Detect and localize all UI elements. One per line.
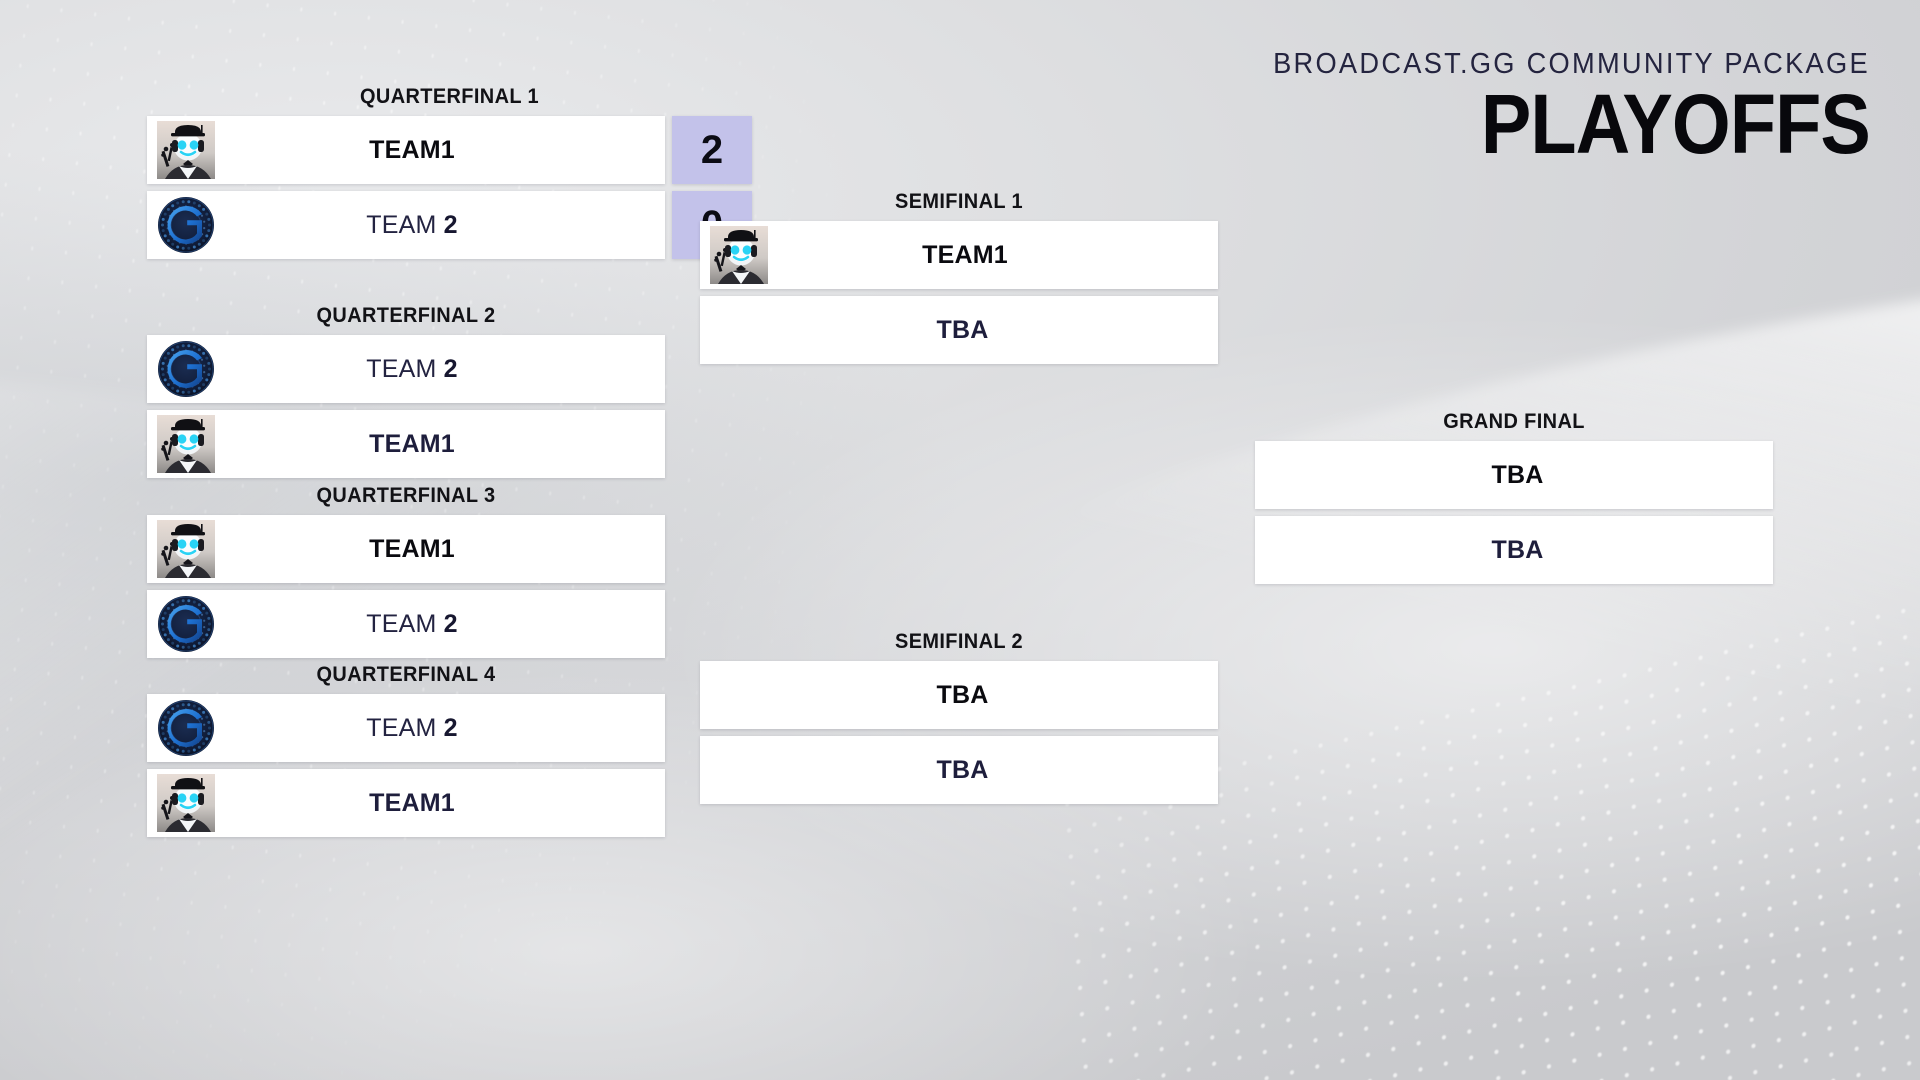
team-name: TEAM1 — [215, 136, 665, 165]
team-card[interactable]: TBA — [700, 661, 1218, 729]
header: BROADCAST.GG COMMUNITY PACKAGE PLAYOFFS — [1235, 48, 1870, 165]
team-row[interactable]: TEAM 2 — [147, 335, 665, 403]
match-semifinal-2: SEMIFINAL 2TBATBA — [700, 630, 1218, 804]
match-label: QUARTERFINAL 3 — [160, 484, 652, 508]
team-row[interactable]: TBA — [1255, 441, 1773, 509]
team-name: TEAM1 — [215, 789, 665, 818]
team-card[interactable]: TEAM1 — [147, 410, 665, 478]
team-card[interactable]: TEAM 2 — [147, 694, 665, 762]
robot-logo — [157, 520, 215, 578]
match-semifinal-1: SEMIFINAL 1TEAM1TBA — [700, 190, 1218, 364]
match-rows: TEAM1TEAM 2 — [147, 515, 665, 658]
team-row[interactable]: TBA — [700, 296, 1218, 364]
team-row[interactable]: TBA — [1255, 516, 1773, 584]
team-card[interactable]: TBA — [700, 736, 1218, 804]
team-card[interactable]: TEAM1 — [147, 515, 665, 583]
team-row[interactable]: TBA — [700, 661, 1218, 729]
team-row[interactable]: TEAM1 — [147, 410, 665, 478]
robot-logo — [157, 774, 215, 832]
team-row[interactable]: TEAM12 — [147, 116, 752, 184]
match-label: SEMIFINAL 2 — [713, 630, 1205, 654]
match-quarterfinal-1: QUARTERFINAL 1TEAM12TEAM 20 — [147, 85, 752, 259]
team-card[interactable]: TEAM1 — [700, 221, 1218, 289]
team-name: TEAM1 — [215, 430, 665, 459]
match-label: SEMIFINAL 1 — [713, 190, 1205, 214]
team-name: TEAM1 — [215, 535, 665, 564]
match-grand-final: GRAND FINALTBATBA — [1255, 410, 1773, 584]
match-label: GRAND FINAL — [1268, 410, 1760, 434]
team-name: TEAM 2 — [215, 714, 665, 743]
page-title: PLAYOFFS — [1299, 85, 1870, 165]
match-rows: TEAM1TBA — [700, 221, 1218, 364]
team-card[interactable]: TBA — [700, 296, 1218, 364]
g-circle-logo — [157, 699, 215, 757]
team-name: TEAM1 — [768, 241, 1218, 270]
match-label: QUARTERFINAL 4 — [160, 663, 652, 687]
team-card[interactable]: TEAM1 — [147, 116, 665, 184]
team-name: TBA — [707, 756, 1218, 785]
match-label: QUARTERFINAL 2 — [160, 304, 652, 328]
team-card[interactable]: TBA — [1255, 516, 1773, 584]
team-name: TBA — [1262, 461, 1773, 490]
team-name: TEAM 2 — [215, 610, 665, 639]
robot-logo — [157, 415, 215, 473]
team-row[interactable]: TEAM 2 — [147, 694, 665, 762]
team-name: TEAM 2 — [215, 355, 665, 384]
robot-logo — [157, 121, 215, 179]
match-rows: TBATBA — [1255, 441, 1773, 584]
team-row[interactable]: TEAM 20 — [147, 191, 752, 259]
match-label: QUARTERFINAL 1 — [162, 85, 737, 109]
g-circle-logo — [157, 196, 215, 254]
match-rows: TEAM12TEAM 20 — [147, 116, 752, 259]
team-row[interactable]: TEAM 2 — [147, 590, 665, 658]
match-rows: TEAM 2TEAM1 — [147, 335, 665, 478]
team-name: TBA — [707, 316, 1218, 345]
team-name: TBA — [1262, 536, 1773, 565]
team-row[interactable]: TEAM1 — [700, 221, 1218, 289]
team-card[interactable]: TEAM 2 — [147, 590, 665, 658]
match-quarterfinal-4: QUARTERFINAL 4TEAM 2TEAM1 — [147, 663, 665, 837]
robot-logo — [710, 226, 768, 284]
score-box: 2 — [672, 116, 752, 184]
team-name: TEAM 2 — [215, 211, 665, 240]
team-row[interactable]: TEAM1 — [147, 769, 665, 837]
team-card[interactable]: TBA — [1255, 441, 1773, 509]
g-circle-logo — [157, 595, 215, 653]
team-row[interactable]: TEAM1 — [147, 515, 665, 583]
match-quarterfinal-2: QUARTERFINAL 2TEAM 2TEAM1 — [147, 304, 665, 478]
team-card[interactable]: TEAM 2 — [147, 191, 665, 259]
team-name: TBA — [707, 681, 1218, 710]
match-quarterfinal-3: QUARTERFINAL 3TEAM1TEAM 2 — [147, 484, 665, 658]
g-circle-logo — [157, 340, 215, 398]
team-card[interactable]: TEAM1 — [147, 769, 665, 837]
match-rows: TBATBA — [700, 661, 1218, 804]
team-card[interactable]: TEAM 2 — [147, 335, 665, 403]
match-rows: TEAM 2TEAM1 — [147, 694, 665, 837]
team-row[interactable]: TBA — [700, 736, 1218, 804]
